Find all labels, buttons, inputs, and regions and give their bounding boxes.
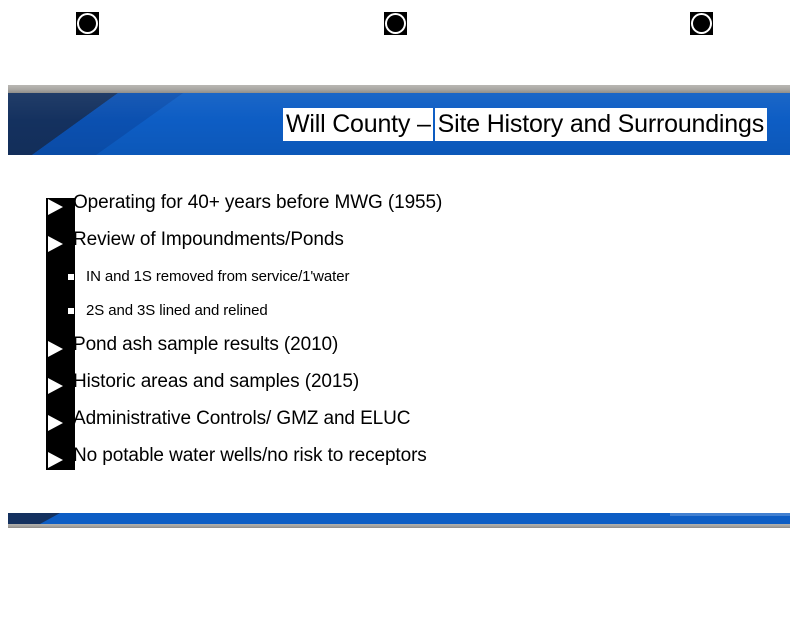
- list-item: Administrative Controls/ GMZ and ELUC: [0, 406, 800, 443]
- list-item: No potable water wells/no risk to recept…: [0, 443, 800, 480]
- arrow-bullet-icon: [47, 378, 66, 394]
- list-item-label: Pond ash sample results (2010): [73, 332, 338, 357]
- arrow-bullet-icon: [47, 341, 66, 357]
- list-item-label: Administrative Controls/ GMZ and ELUC: [73, 406, 410, 431]
- page-title-part-one: Will County –: [283, 108, 433, 141]
- slide-footer-banner: [8, 513, 790, 528]
- header-gray-strip: [8, 85, 790, 93]
- registration-mark-right-icon: [690, 12, 713, 35]
- slide-canvas: Will County – Site History and Surroundi…: [0, 0, 800, 618]
- list-item: Pond ash sample results (2010): [0, 332, 800, 369]
- arrow-bullet-icon: [47, 415, 66, 431]
- list-item: Historic areas and samples (2015): [0, 369, 800, 406]
- registration-mark-center-icon: [384, 12, 407, 35]
- page-title: Will County – Site History and Surroundi…: [283, 108, 767, 141]
- footer-blue-band: [8, 513, 790, 524]
- list-item-label: Historic areas and samples (2015): [73, 369, 359, 394]
- square-bullet-icon: [68, 274, 74, 280]
- arrow-bullet-icon: [47, 236, 66, 252]
- square-bullet-icon: [68, 308, 74, 314]
- list-item-label: IN and 1S removed from service/1'water: [86, 266, 349, 288]
- list-item-label: 2S and 3S lined and relined: [86, 300, 268, 322]
- footer-navy-wedge: [8, 513, 78, 524]
- list-item-label: Operating for 40+ years before MWG (1955…: [73, 190, 442, 215]
- page-title-part-two: Site History and Surroundings: [435, 108, 767, 141]
- list-item: Review of Impoundments/Ponds: [0, 227, 800, 264]
- registration-mark-left-icon: [76, 12, 99, 35]
- list-item: Operating for 40+ years before MWG (1955…: [0, 190, 800, 227]
- arrow-bullet-icon: [47, 199, 66, 215]
- list-item-label: Review of Impoundments/Ponds: [73, 227, 344, 252]
- bullet-list: Operating for 40+ years before MWG (1955…: [0, 190, 800, 480]
- list-item: 2S and 3S lined and relined: [0, 298, 800, 332]
- registration-ring-icon: [79, 15, 96, 32]
- registration-ring-icon: [387, 15, 404, 32]
- arrow-bullet-icon: [47, 452, 66, 468]
- footer-sheen-overlay: [670, 513, 790, 516]
- registration-ring-icon: [693, 15, 710, 32]
- footer-gray-strip: [8, 524, 790, 528]
- list-item-label: No potable water wells/no risk to recept…: [73, 443, 427, 468]
- list-item: IN and 1S removed from service/1'water: [0, 264, 800, 298]
